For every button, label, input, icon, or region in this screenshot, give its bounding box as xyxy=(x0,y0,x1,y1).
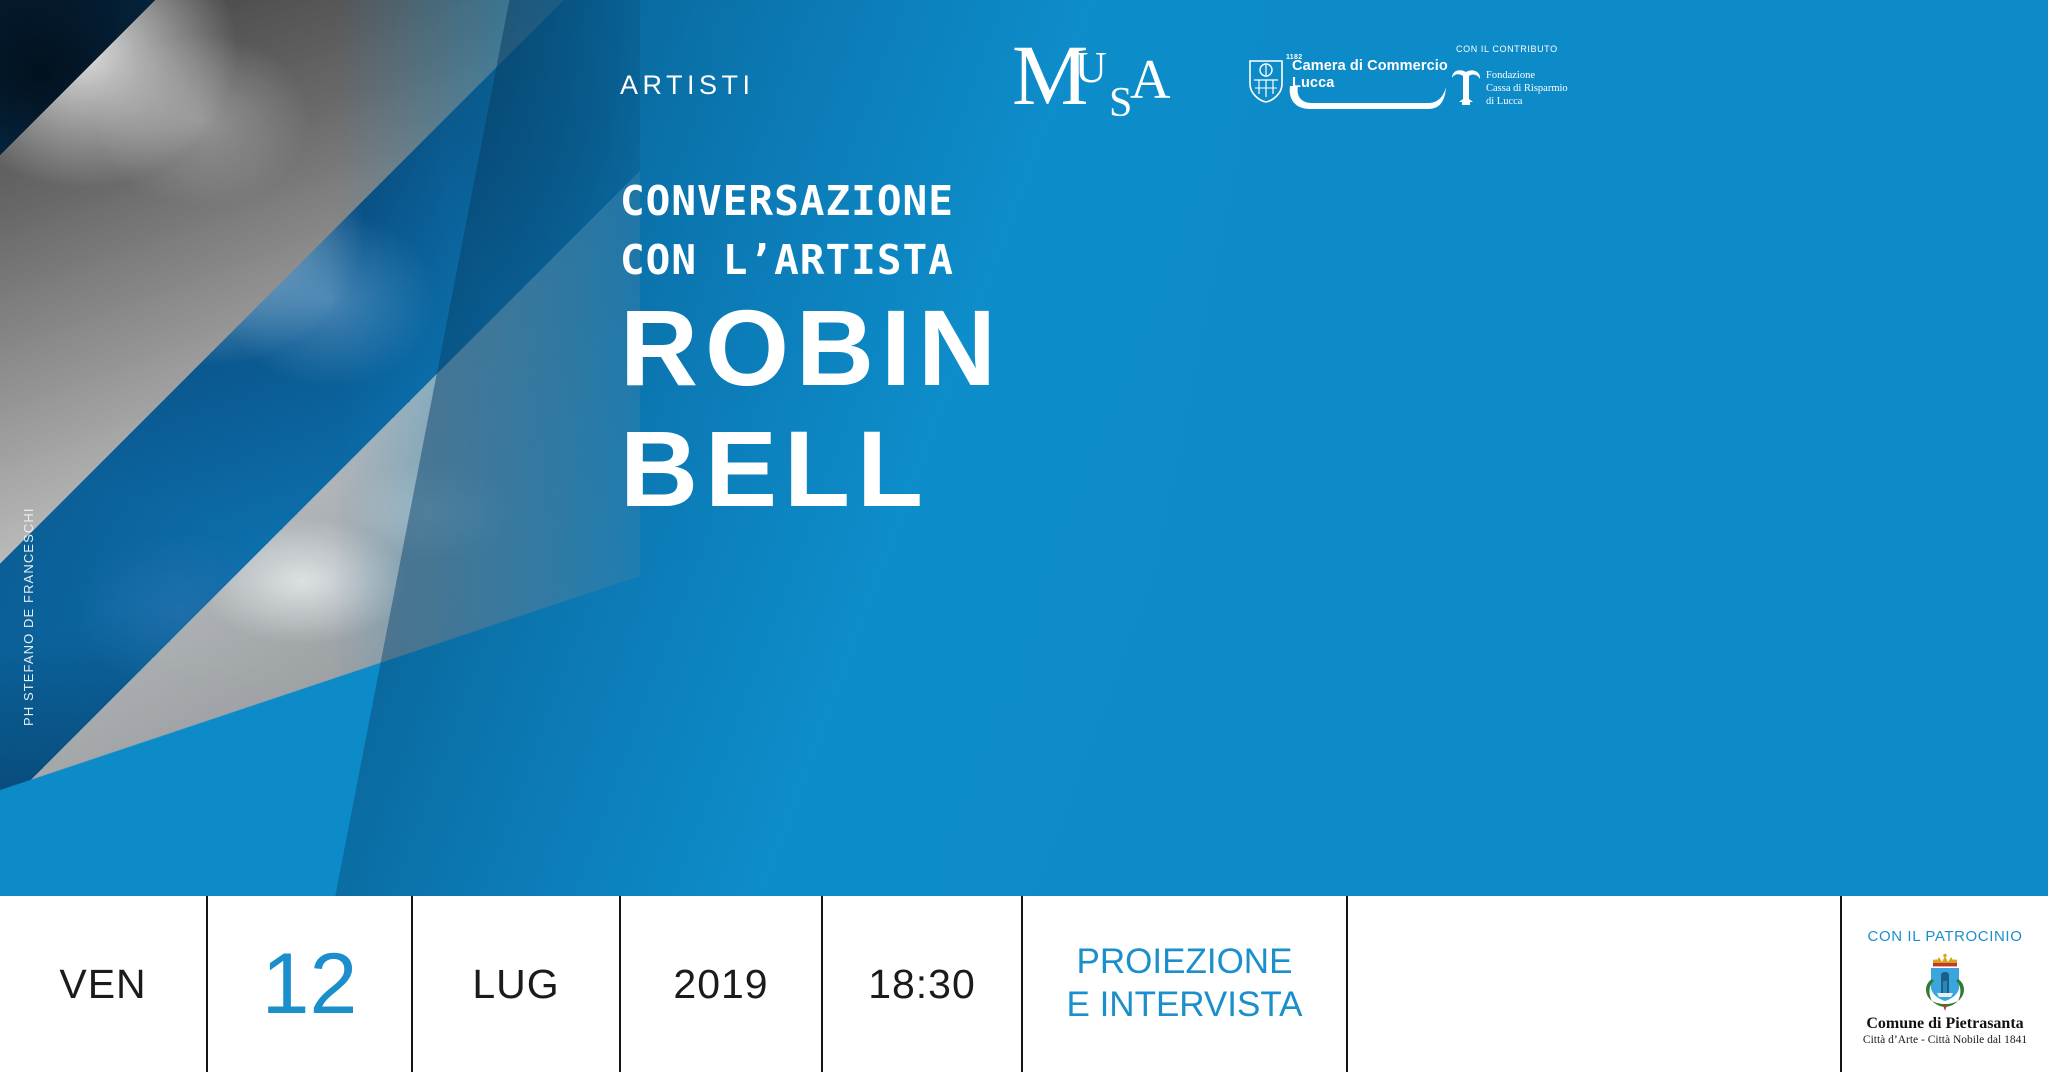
musa-logo: M U S A xyxy=(1012,32,1182,124)
fondazione-wordmark: Fondazione Cassa di Risparmio di Lucca xyxy=(1486,69,1568,109)
fondazione-logo: CON IL CONTRIBUTO Fondazione Cassa di Ri… xyxy=(1448,44,1568,116)
patrocinio-subtitle: Città d’Arte - Città Nobile dal 1841 xyxy=(1863,1034,2027,1046)
footer-cell-weekday: VEN xyxy=(0,896,208,1072)
svg-text:U: U xyxy=(1075,43,1107,92)
event-month: LUG xyxy=(472,961,559,1008)
pietrasanta-coat-of-arms-icon xyxy=(1916,951,1974,1013)
patrocinio-name: Comune di Pietrasanta xyxy=(1866,1015,2023,1033)
event-time: 18:30 xyxy=(868,961,976,1008)
event-day: 12 xyxy=(262,941,358,1027)
event-year: 2019 xyxy=(673,961,768,1008)
cdc-founded-year: 1182 xyxy=(1286,54,1302,61)
fondazione-mark-icon xyxy=(1448,66,1484,106)
artist-name: ROBIN BELL xyxy=(620,288,1003,530)
footer-cell-empty xyxy=(1348,896,1842,1072)
event-detail-bar: VEN 12 LUG 2019 18:30 PROIEZIONE E INTER… xyxy=(0,896,2048,1072)
cdc-swoosh-icon xyxy=(1288,84,1448,114)
event-kind: PROIEZIONE E INTERVISTA xyxy=(1067,941,1303,1026)
event-weekday: VEN xyxy=(59,961,146,1008)
footer-cell-month: LUG xyxy=(413,896,621,1072)
svg-text:S: S xyxy=(1109,80,1132,124)
fondazione-kicker: CON IL CONTRIBUTO xyxy=(1456,44,1568,54)
cdc-crest-icon xyxy=(1248,58,1284,104)
event-poster: PH STEFANO DE FRANCESCHI ARTISTI CONVERS… xyxy=(0,0,2048,1072)
footer-cell-time: 18:30 xyxy=(823,896,1023,1072)
event-headline: CONVERSAZIONE CON L’ARTISTA xyxy=(620,172,954,291)
svg-text:A: A xyxy=(1130,49,1171,111)
footer-cell-event-kind: PROIEZIONE E INTERVISTA xyxy=(1023,896,1348,1072)
hero-banner: PH STEFANO DE FRANCESCHI ARTISTI CONVERS… xyxy=(0,0,2048,896)
footer-cell-patrocinio: CON IL PATROCINIO xyxy=(1842,896,2048,1072)
photo-credit: PH STEFANO DE FRANCESCHI xyxy=(21,507,36,726)
patrocinio-kicker: CON IL PATROCINIO xyxy=(1868,928,2023,945)
footer-cell-year: 2019 xyxy=(621,896,823,1072)
camera-di-commercio-lucca-logo: 1182 Camera di Commercio Lucca xyxy=(1248,58,1448,116)
hero-logo-row: M U S A 1182 xyxy=(0,0,2048,180)
footer-cell-day: 12 xyxy=(208,896,413,1072)
